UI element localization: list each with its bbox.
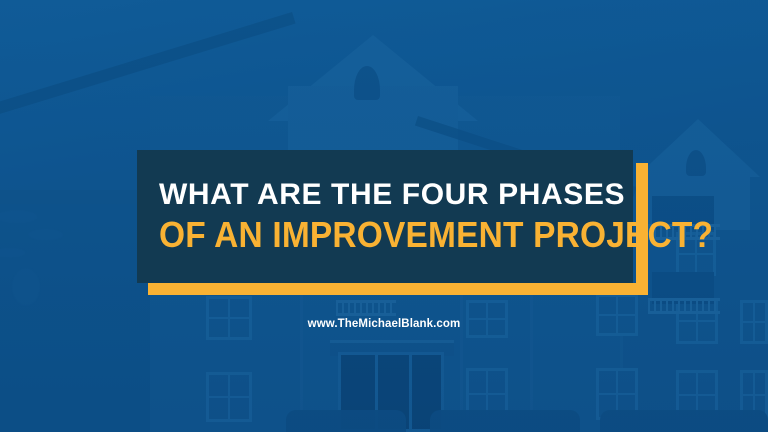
website-url: www.TheMichaelBlank.com xyxy=(0,318,768,330)
banner-graphic: WHAT ARE THE FOUR PHASES OF AN IMPROVEME… xyxy=(0,0,768,432)
title-card: WHAT ARE THE FOUR PHASES OF AN IMPROVEME… xyxy=(137,150,633,283)
title-line-2: OF AN IMPROVEMENT PROJECT? xyxy=(159,217,600,253)
accent-bar-bottom xyxy=(148,283,648,295)
title-card-content: WHAT ARE THE FOUR PHASES OF AN IMPROVEME… xyxy=(137,150,633,283)
title-line-1: WHAT ARE THE FOUR PHASES xyxy=(159,180,633,210)
